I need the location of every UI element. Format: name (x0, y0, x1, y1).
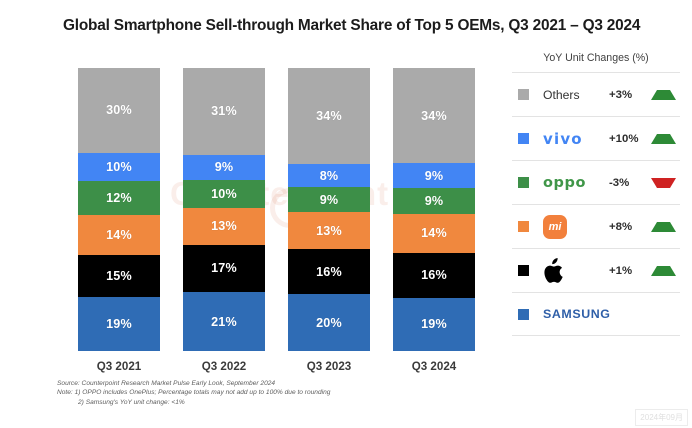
bar-segment-label: 19% (106, 317, 132, 331)
footnote-note-1: Note: 1) OPPO includes OnePlus; Percenta… (57, 388, 330, 397)
bar-group: 31%9%10%13%17%21% (183, 68, 265, 351)
stacked-bar-chart: 30%10%12%14%15%19%Q3 202131%9%10%13%17%2… (55, 68, 510, 358)
bar-segment-vivo: 8% (288, 164, 370, 187)
bar-segment-vivo: 10% (78, 153, 160, 181)
trend-down-icon (651, 178, 676, 188)
bar-segment-oppo: 9% (393, 188, 475, 213)
bar-segment-others: 30% (78, 68, 160, 153)
bar-segment-xiaomi: 13% (183, 208, 265, 244)
trend-up-icon (651, 222, 676, 232)
legend-rows: Others+3%vivo+10%oppo-3%mi+8%+1%SAMSUNG (512, 72, 680, 336)
oppo-logo: oppo (543, 175, 586, 191)
bar-segment-others: 31% (183, 68, 265, 155)
bar-group: 34%8%9%13%16%20% (288, 68, 370, 351)
bar-segment-samsung: 19% (393, 298, 475, 351)
footnote-note-2: 2) Samsung's YoY unit change: <1% (57, 398, 330, 407)
trend-up-icon (651, 90, 676, 100)
vivo-logo: vivo (543, 130, 583, 148)
legend-brand-label: Others (543, 88, 580, 102)
bar-segment-label: 31% (211, 104, 237, 118)
footnote-source: Source: Counterpoint Research Market Pul… (57, 379, 330, 388)
bar-segment-label: 9% (425, 169, 444, 183)
bar-segment-apple: 16% (393, 253, 475, 298)
x-axis-label: Q3 2023 (288, 360, 370, 373)
xiaomi-mi-logo: mi (543, 215, 567, 239)
bar-segment-label: 16% (316, 265, 342, 279)
legend-color-swatch (518, 177, 529, 188)
bar-segment-label: 34% (421, 109, 447, 123)
bar-segment-label: 10% (106, 160, 132, 174)
bar-segment-samsung: 19% (78, 297, 160, 351)
bar-segment-label: 9% (215, 160, 234, 174)
x-axis-label: Q3 2024 (393, 360, 475, 373)
bar-segment-label: 9% (425, 194, 444, 208)
samsung-logo: SAMSUNG (543, 307, 611, 321)
bar-segment-oppo: 12% (78, 181, 160, 215)
legend-brand-vivo: vivo (543, 130, 609, 148)
bar-segment-label: 34% (316, 109, 342, 123)
date-watermark: 2024年09月 (635, 409, 688, 426)
bar-segment-label: 14% (106, 228, 132, 242)
bar-segment-apple: 17% (183, 245, 265, 293)
bar-segment-label: 16% (421, 268, 447, 282)
apple-logo-icon (543, 258, 565, 284)
bar-segment-others: 34% (288, 68, 370, 164)
bar-segment-label: 14% (421, 226, 447, 240)
legend-color-swatch (518, 89, 529, 100)
legend-yoy-change: -3% (609, 177, 649, 189)
legend-color-swatch (518, 221, 529, 232)
legend-yoy-change: +8% (609, 221, 649, 233)
bar-segment-others: 34% (393, 68, 475, 163)
bar-segment-label: 30% (106, 103, 132, 117)
legend-title: YoY Unit Changes (%) (512, 52, 680, 72)
bar-segment-label: 12% (106, 191, 132, 205)
bar-segment-label: 17% (211, 261, 237, 275)
x-axis-label: Q3 2022 (183, 360, 265, 373)
legend-row[interactable]: vivo+10% (512, 116, 680, 160)
bar-segment-label: 19% (421, 317, 447, 331)
legend-row[interactable]: SAMSUNG (512, 292, 680, 336)
trend-up-icon (651, 266, 676, 276)
legend-row[interactable]: Others+3% (512, 72, 680, 116)
bar-segment-label: 13% (211, 219, 237, 233)
bar-segment-label: 9% (320, 193, 339, 207)
bar-segment-vivo: 9% (183, 155, 265, 180)
legend-yoy-change: +1% (609, 265, 649, 277)
bar-segment-xiaomi: 13% (288, 212, 370, 249)
legend-brand-apple (543, 258, 609, 284)
bar-segment-oppo: 10% (183, 180, 265, 208)
legend-row[interactable]: +1% (512, 248, 680, 292)
bar-segment-samsung: 21% (183, 292, 265, 351)
legend-brand-others: Others (543, 88, 609, 102)
legend: YoY Unit Changes (%) Others+3%vivo+10%op… (512, 52, 680, 336)
legend-color-swatch (518, 133, 529, 144)
bar-segment-label: 15% (106, 269, 132, 283)
bar-group: 30%10%12%14%15%19% (78, 68, 160, 351)
bar-group: 34%9%9%14%16%19% (393, 68, 475, 351)
legend-brand-oppo: oppo (543, 175, 609, 191)
legend-row[interactable]: oppo-3% (512, 160, 680, 204)
bar-segment-label: 13% (316, 224, 342, 238)
bar-segment-vivo: 9% (393, 163, 475, 188)
bar-segment-xiaomi: 14% (78, 215, 160, 255)
x-axis-label: Q3 2021 (78, 360, 160, 373)
bar-segment-label: 21% (211, 315, 237, 329)
bar-segment-samsung: 20% (288, 294, 370, 351)
bar-segment-apple: 16% (288, 249, 370, 294)
legend-brand-xiaomi: mi (543, 215, 609, 239)
bar-segment-label: 10% (211, 187, 237, 201)
bar-segment-xiaomi: 14% (393, 214, 475, 253)
bar-segment-label: 8% (320, 169, 339, 183)
bar-segment-label: 20% (316, 316, 342, 330)
legend-color-swatch (518, 265, 529, 276)
trend-up-icon (651, 134, 676, 144)
footnotes: Source: Counterpoint Research Market Pul… (57, 379, 330, 407)
bar-segment-apple: 15% (78, 255, 160, 297)
chart-page: Global Smartphone Sell-through Market Sh… (0, 0, 692, 428)
legend-row[interactable]: mi+8% (512, 204, 680, 248)
bar-segment-oppo: 9% (288, 187, 370, 212)
legend-brand-samsung: SAMSUNG (543, 307, 621, 321)
legend-yoy-change: +3% (609, 89, 649, 101)
legend-color-swatch (518, 309, 529, 320)
legend-yoy-change: +10% (609, 133, 649, 145)
page-title: Global Smartphone Sell-through Market Sh… (63, 17, 640, 35)
